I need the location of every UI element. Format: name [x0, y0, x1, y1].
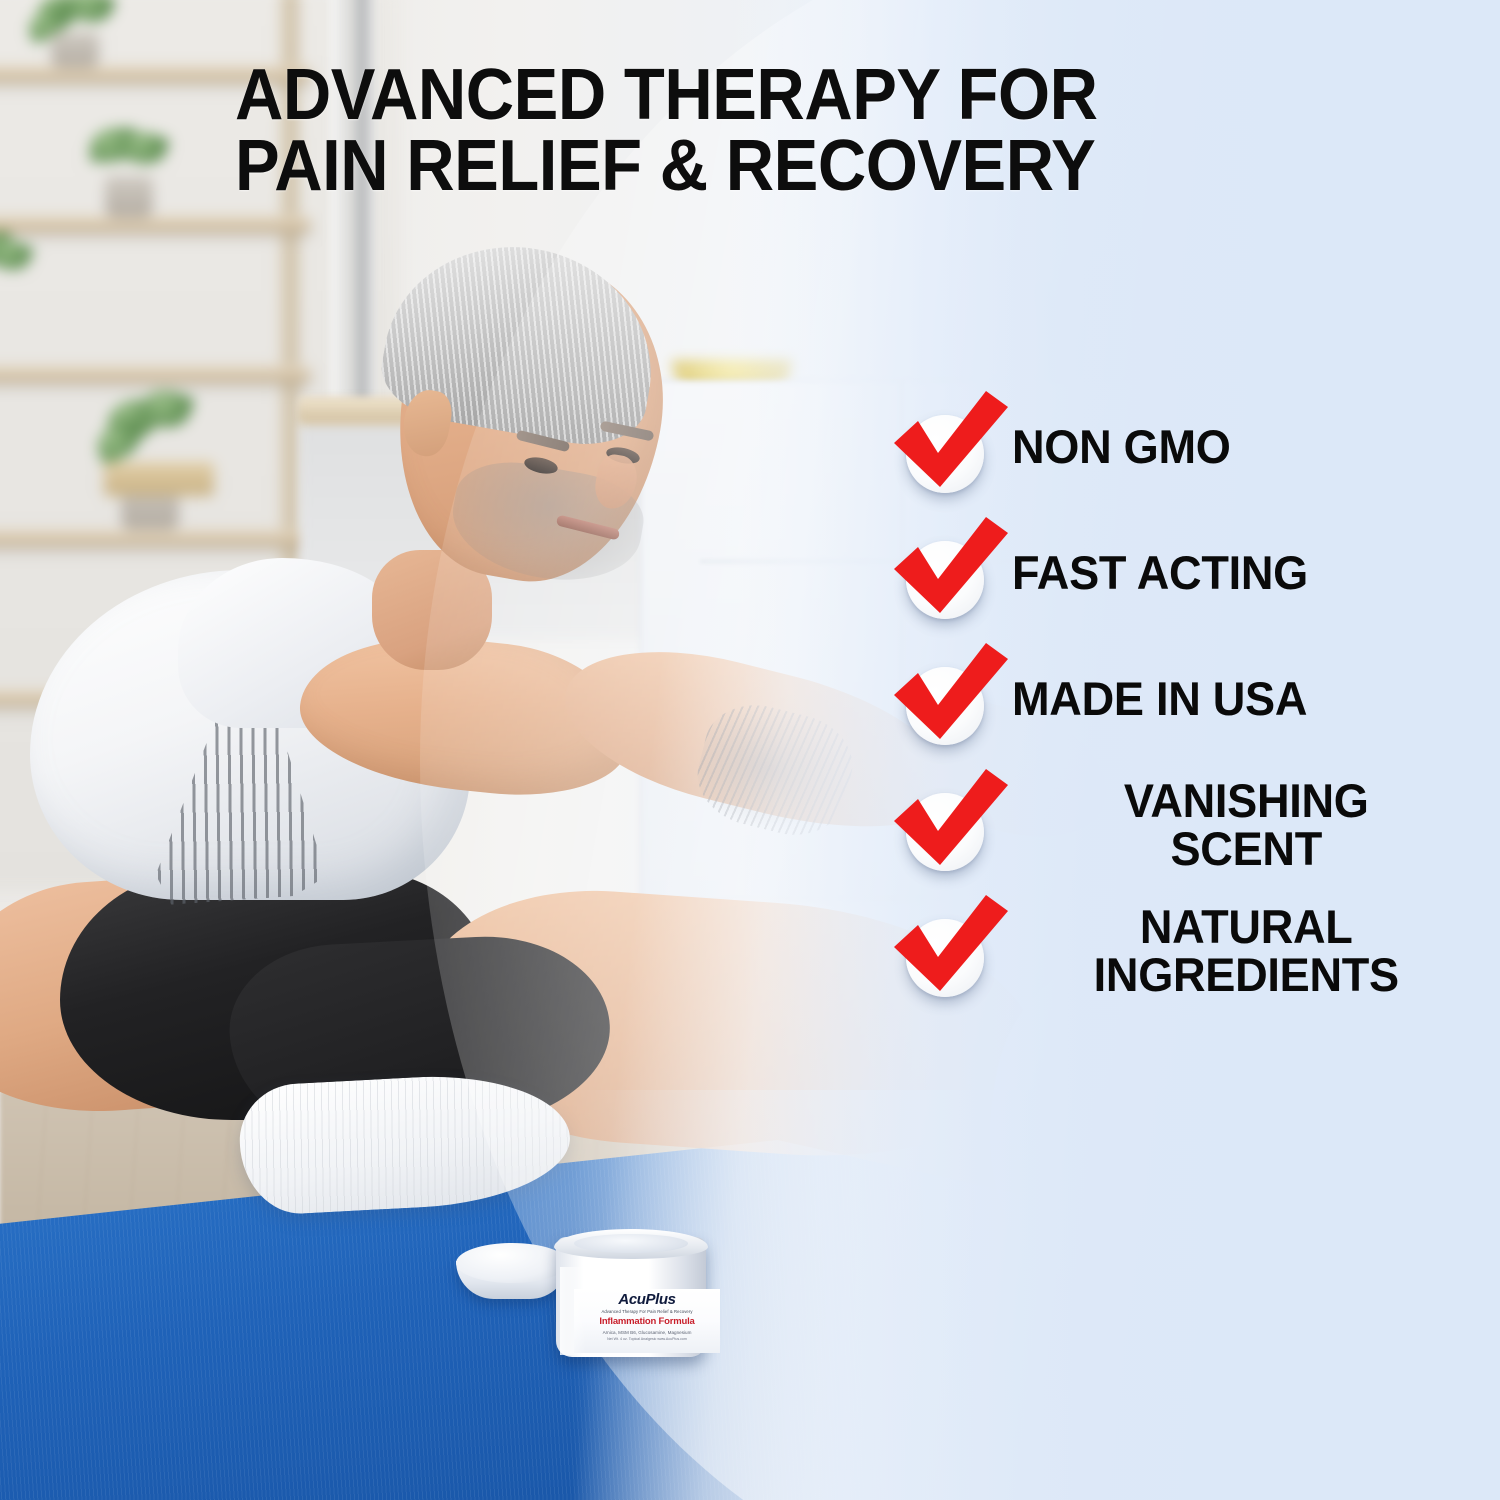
product-formula-name: Inflammation Formula	[574, 1317, 720, 1327]
product-ingredients: Arnica, MSM B6, Glucosamine, Magnesium	[574, 1330, 720, 1336]
feature-item-non-gmo: NON GMO	[890, 395, 1500, 499]
feature-label: VANISHING SCENT	[1012, 777, 1480, 873]
product-marketing-image: AcuPlus Advanced Therapy For Pain Relief…	[0, 0, 1500, 1500]
headline: ADVANCED THERAPY FOR PAIN RELIEF & RECOV…	[235, 60, 1221, 203]
headline-line-2: PAIN RELIEF & RECOVERY	[235, 131, 1221, 202]
jar-label: AcuPlus Advanced Therapy For Pain Relief…	[574, 1289, 720, 1353]
checkmark-wrapper	[890, 395, 1012, 499]
red-check-icon	[890, 391, 1012, 499]
jar-opening	[574, 1234, 688, 1253]
red-check-icon	[890, 895, 1012, 1003]
product-label-footer: Net Wt. 4 oz. Topical Analgesic www.AcuP…	[574, 1337, 720, 1341]
checkmark-wrapper	[890, 899, 1012, 1003]
feature-checklist: NON GMO FAST ACTING MADE IN USA	[890, 395, 1500, 1025]
feature-label: NON GMO	[1012, 423, 1231, 471]
red-check-icon	[890, 517, 1012, 625]
feature-item-vanishing-scent: VANISHING SCENT	[890, 773, 1500, 877]
red-check-icon	[890, 643, 1012, 751]
checkmark-wrapper	[890, 521, 1012, 625]
product-tagline: Advanced Therapy For Pain Relief & Recov…	[574, 1309, 720, 1314]
product-brand-name: AcuPlus	[574, 1292, 720, 1307]
feature-item-made-in-usa: MADE IN USA	[890, 647, 1500, 751]
red-check-icon	[890, 769, 1012, 877]
feature-label: MADE IN USA	[1012, 675, 1307, 723]
checkmark-wrapper	[890, 773, 1012, 877]
headline-line-1: ADVANCED THERAPY FOR	[235, 60, 1221, 131]
product-jar: AcuPlus Advanced Therapy For Pain Relief…	[540, 1215, 750, 1365]
feature-item-fast-acting: FAST ACTING	[890, 521, 1500, 625]
checkmark-wrapper	[890, 647, 1012, 751]
feature-label: FAST ACTING	[1012, 549, 1308, 597]
feature-label: NATURAL INGREDIENTS	[1012, 903, 1480, 999]
feature-item-natural-ingredients: NATURAL INGREDIENTS	[890, 899, 1500, 1003]
